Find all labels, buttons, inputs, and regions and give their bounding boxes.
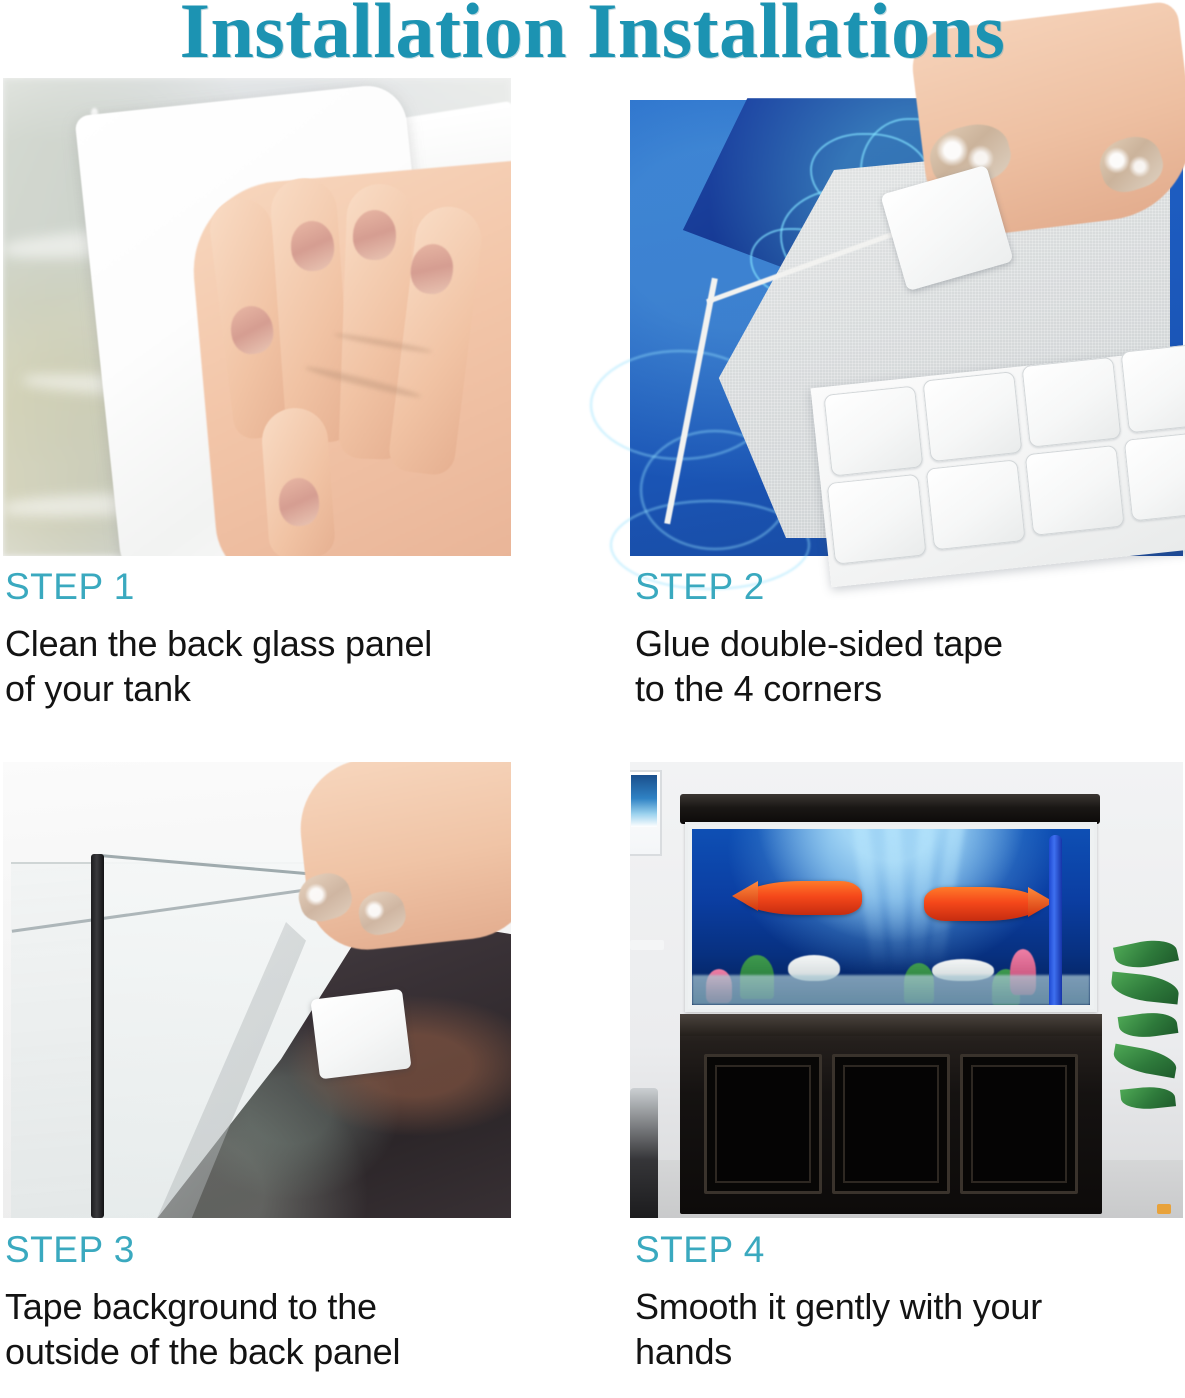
step-4-photo <box>630 762 1183 1218</box>
tank-black-corner-trim <box>91 854 104 1218</box>
power-cord-plug <box>1157 1204 1171 1214</box>
step-4-image-cell <box>630 762 1183 1218</box>
step-2-image-cell <box>630 78 1183 556</box>
hand-holding-poster <box>294 762 511 956</box>
step-3-description-line-1: Tape background to the <box>5 1284 575 1329</box>
aquarium-substrate <box>692 975 1090 1005</box>
step-2-description-line-2: to the 4 corners <box>635 666 1180 711</box>
fingernail <box>352 209 397 260</box>
plant-leaf <box>1110 972 1180 1005</box>
page-title-bar: Installation Installations <box>0 0 1185 78</box>
cabinet-door-panel <box>843 1065 939 1183</box>
step-2-description: Glue double-sided tape to the 4 corners <box>635 621 1180 711</box>
step-2-label: STEP 2 <box>635 565 1180 609</box>
step-2-photo <box>630 78 1183 556</box>
adhesive-pad <box>926 459 1026 550</box>
step-4-description-line-1: Smooth it gently with your <box>635 1284 1180 1329</box>
aquarium-heater-tube <box>1049 835 1062 1005</box>
step-3-image-cell <box>3 762 511 1218</box>
step-1-label: STEP 1 <box>5 565 565 609</box>
light-ray <box>884 829 908 969</box>
cabinet-door[interactable] <box>960 1054 1078 1194</box>
step-3-description: Tape background to the outside of the ba… <box>5 1284 575 1374</box>
step-4-description-line-2: hands <box>635 1329 1180 1374</box>
cabinet-door[interactable] <box>704 1054 822 1194</box>
step-3-label: STEP 3 <box>5 1228 575 1272</box>
plant-leaf <box>1113 935 1179 973</box>
adhesive-pad <box>1025 445 1125 536</box>
step-3-description-line-2: outside of the back panel <box>5 1329 575 1374</box>
step-2-caption: STEP 2 Glue double-sided tape to the 4 c… <box>635 565 1180 711</box>
step-4-description: Smooth it gently with your hands <box>635 1284 1180 1374</box>
aquarium-tank <box>685 822 1097 1012</box>
red-arowana-fish <box>924 887 1042 921</box>
step-4-caption: STEP 4 Smooth it gently with your hands <box>635 1228 1180 1374</box>
aquarium-cabinet-stand <box>680 1014 1102 1214</box>
step-2-description-line-1: Glue double-sided tape <box>635 621 1180 666</box>
wall-art-image <box>631 775 657 827</box>
adhesive-pad <box>1124 432 1185 522</box>
aquarium-water-view <box>692 829 1090 1005</box>
red-arowana-fish <box>742 881 862 915</box>
adhesive-pad <box>1120 343 1185 433</box>
cabinet-door-panel <box>715 1065 811 1183</box>
step-3-caption: STEP 3 Tape background to the outside of… <box>5 1228 575 1374</box>
double-sided-tape-square <box>310 989 411 1080</box>
cabinet-top-trim <box>680 1014 1102 1036</box>
cabinet-door[interactable] <box>832 1054 950 1194</box>
step-1-image-cell <box>3 78 511 556</box>
fish-tail <box>732 881 758 911</box>
step-1-photo <box>3 78 511 556</box>
step-1-description-line-1: Clean the back glass panel <box>5 621 565 666</box>
step-1-caption: STEP 1 Clean the back glass panel of you… <box>5 565 565 711</box>
side-furniture <box>630 1088 658 1218</box>
adhesive-pad <box>1021 357 1121 448</box>
plant-leaf <box>1120 1084 1176 1112</box>
wall-art-frame <box>630 770 662 856</box>
page-title: Installation Installations <box>180 0 1006 76</box>
step-4-label: STEP 4 <box>635 1228 1180 1272</box>
adhesive-pad <box>827 474 927 565</box>
adhesive-pad <box>823 385 923 476</box>
cabinet-door-panel <box>971 1065 1067 1183</box>
plant-leaf <box>1118 1009 1179 1041</box>
aquarium-hood <box>680 794 1100 824</box>
step-1-description-line-2: of your tank <box>5 666 565 711</box>
plant-leaf <box>1111 1044 1178 1079</box>
adhesive-pad <box>922 371 1022 462</box>
step-1-description: Clean the back glass panel of your tank <box>5 621 565 711</box>
house-plant <box>1109 937 1183 1147</box>
step-3-photo <box>3 762 511 1218</box>
side-shelf <box>630 940 664 950</box>
adhesive-pad-sheet <box>811 349 1185 588</box>
